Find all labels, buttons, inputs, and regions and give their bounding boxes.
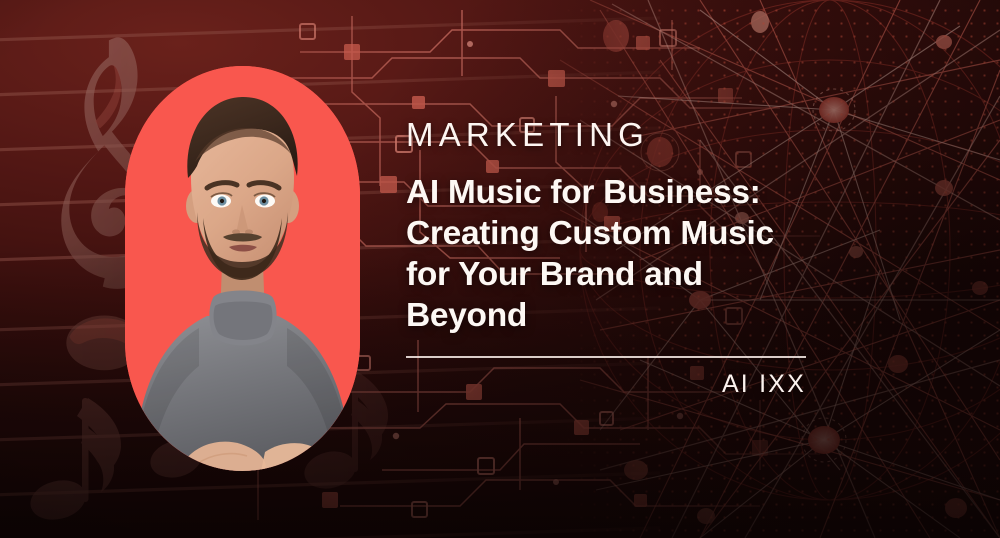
portrait-hands bbox=[125, 66, 360, 471]
byline-author: AI IXX bbox=[406, 370, 806, 399]
byline-divider bbox=[406, 356, 806, 358]
author-portrait bbox=[125, 66, 360, 471]
banner-headline: AI Music for Business: Creating Custom M… bbox=[406, 173, 826, 336]
category-kicker: MARKETING bbox=[406, 118, 826, 151]
banner-text-block: MARKETING AI Music for Business: Creatin… bbox=[406, 118, 826, 336]
blog-banner-image: MARKETING AI Music for Business: Creatin… bbox=[0, 0, 1000, 538]
